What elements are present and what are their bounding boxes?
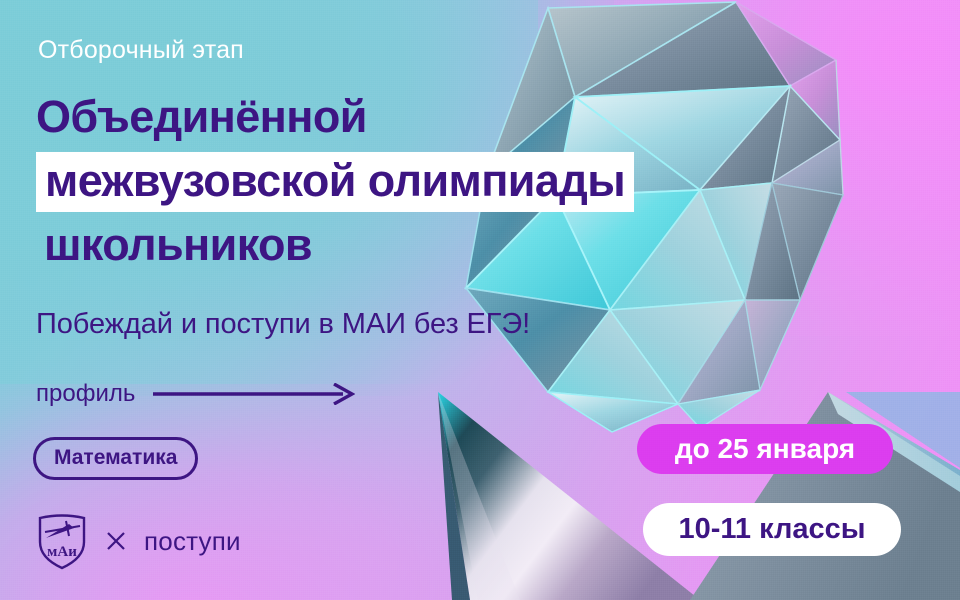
- promo-banner: Отборочный этап Объединённой межвузовско…: [0, 0, 960, 600]
- background-noise-overlay: [0, 0, 960, 600]
